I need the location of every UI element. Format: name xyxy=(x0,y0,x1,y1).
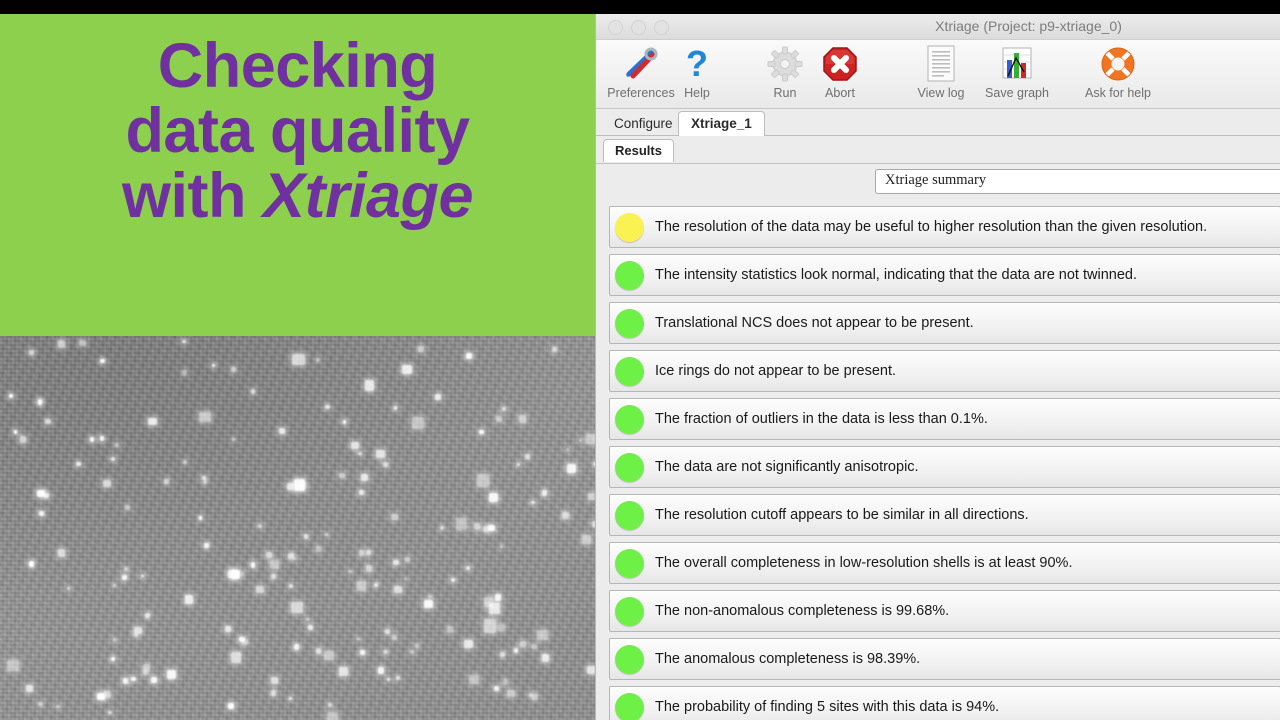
lifebuoy-icon xyxy=(1068,43,1168,85)
window-titlebar: Xtriage (Project: p9-xtriage_0) xyxy=(596,14,1280,40)
toolbar-label-view-log: View log xyxy=(906,86,976,100)
result-row[interactable]: Translational NCS does not appear to be … xyxy=(609,302,1280,344)
toolbar-button-run[interactable]: Run xyxy=(760,43,810,100)
result-text: The non-anomalous completeness is 99.68%… xyxy=(655,603,949,619)
result-text: The intensity statistics look normal, in… xyxy=(655,267,1137,283)
toolbar-label-help: Help xyxy=(670,86,724,100)
status-ok-icon xyxy=(615,645,644,674)
toolbar-button-abort[interactable]: Abort xyxy=(810,43,870,100)
subtab-results[interactable]: Results xyxy=(603,139,674,162)
toolbar-label-abort: Abort xyxy=(810,86,870,100)
result-text: The resolution of the data may be useful… xyxy=(655,219,1207,235)
status-ok-icon xyxy=(615,693,644,720)
toolbar-button-save-graph[interactable]: Save graph xyxy=(976,43,1058,100)
result-text: The fraction of outliers in the data is … xyxy=(655,411,988,427)
toolbar-label-preferences: Preferences xyxy=(602,86,680,100)
toolbar-button-view-log[interactable]: View log xyxy=(906,43,976,100)
screenshot-root: Checking data quality with Xtriage Xtria… xyxy=(0,0,1280,720)
result-text: The anomalous completeness is 98.39%. xyxy=(655,651,920,667)
toolbar-button-ask-for-help[interactable]: Ask for help xyxy=(1068,43,1168,100)
status-warning-icon xyxy=(615,213,644,242)
toolbar-label-ask-for-help: Ask for help xyxy=(1068,86,1168,100)
result-row[interactable]: The intensity statistics look normal, in… xyxy=(609,254,1280,296)
presentation-slide-panel: Checking data quality with Xtriage xyxy=(0,14,595,720)
results-list[interactable]: The resolution of the data may be useful… xyxy=(596,200,1280,720)
toolbar-label-save-graph: Save graph xyxy=(976,86,1058,100)
result-text: The data are not significantly anisotrop… xyxy=(655,459,919,475)
document-icon xyxy=(906,43,976,85)
tools-icon xyxy=(602,43,680,85)
result-row[interactable]: The probability of finding 5 sites with … xyxy=(609,686,1280,720)
result-row[interactable]: The fraction of outliers in the data is … xyxy=(609,398,1280,440)
slide-title-line-2: data quality xyxy=(0,99,595,164)
tab-xtriage-1[interactable]: Xtriage_1 xyxy=(678,111,765,136)
result-row[interactable]: The data are not significantly anisotrop… xyxy=(609,446,1280,488)
status-ok-icon xyxy=(615,405,644,434)
result-text: The overall completeness in low-resoluti… xyxy=(655,555,1072,571)
result-row[interactable]: Ice rings do not appear to be present. xyxy=(609,350,1280,392)
status-ok-icon xyxy=(615,261,644,290)
summary-selector-row: Xtriage summary xyxy=(596,164,1280,198)
tab-configure[interactable]: Configure xyxy=(602,112,685,135)
status-ok-icon xyxy=(615,549,644,578)
status-ok-icon xyxy=(615,453,644,482)
result-row[interactable]: The non-anomalous completeness is 99.68%… xyxy=(609,590,1280,632)
stop-x-icon xyxy=(810,43,870,85)
slide-title-line-1: Checking xyxy=(0,34,595,99)
svg-text:?: ? xyxy=(686,44,708,84)
xtriage-summary-select-value: Xtriage summary xyxy=(885,172,986,189)
result-text: The resolution cutoff appears to be simi… xyxy=(655,507,1029,523)
slide-title: Checking data quality with Xtriage xyxy=(0,34,595,229)
main-toolbar: Preferences ? Help xyxy=(596,40,1280,109)
diffraction-spots xyxy=(0,336,595,720)
status-ok-icon xyxy=(615,309,644,338)
result-row[interactable]: The anomalous completeness is 98.39%. xyxy=(609,638,1280,680)
results-subtabbar: Results xyxy=(596,136,1280,164)
status-ok-icon xyxy=(615,501,644,530)
status-ok-icon xyxy=(615,357,644,386)
diffraction-pattern-image xyxy=(0,336,595,720)
project-tabbar: Configure Xtriage_1 xyxy=(596,109,1280,136)
question-icon: ? xyxy=(670,43,724,85)
slide-title-area: Checking data quality with Xtriage xyxy=(0,14,595,336)
toolbar-label-run: Run xyxy=(760,86,810,100)
result-text: Translational NCS does not appear to be … xyxy=(655,315,974,331)
slide-title-emphasis: Xtriage xyxy=(263,161,473,231)
result-text: Ice rings do not appear to be present. xyxy=(655,363,896,379)
result-row[interactable]: The overall completeness in low-resoluti… xyxy=(609,542,1280,584)
slide-title-line-3-text: with xyxy=(122,161,263,231)
toolbar-button-help[interactable]: ? Help xyxy=(670,43,724,100)
bar-chart-icon xyxy=(976,43,1058,85)
toolbar-button-preferences[interactable]: Preferences xyxy=(602,43,680,100)
letterbox-top xyxy=(0,0,1280,14)
xtriage-summary-select[interactable]: Xtriage summary xyxy=(875,169,1280,194)
result-row[interactable]: The resolution cutoff appears to be simi… xyxy=(609,494,1280,536)
slide-title-line-3: with Xtriage xyxy=(0,164,595,229)
status-ok-icon xyxy=(615,597,644,626)
gear-icon xyxy=(760,43,810,85)
result-row[interactable]: The resolution of the data may be useful… xyxy=(609,206,1280,248)
result-text: The probability of finding 5 sites with … xyxy=(655,699,999,715)
window-title: Xtriage (Project: p9-xtriage_0) xyxy=(596,18,1280,34)
xtriage-window: Xtriage (Project: p9-xtriage_0) Preferen… xyxy=(595,14,1280,720)
